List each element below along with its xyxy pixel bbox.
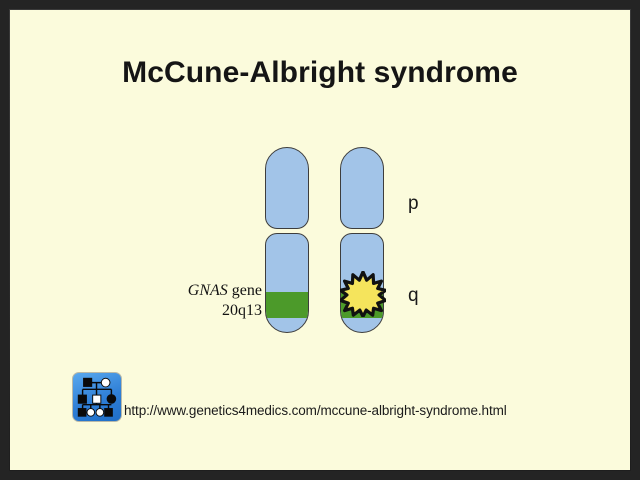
gene-annotation-label: GNAS gene 20q13 [110,281,262,321]
slide-canvas: McCune-Albright syndrome [10,10,630,470]
gene-name-text: GNAS [188,282,228,299]
arm-label-q: q [408,285,419,307]
right-chromatid-p-arm [340,147,384,229]
gnas-gene-band-left [265,292,309,318]
gene-word-label: gene [232,282,262,299]
mutation-starburst-icon [340,271,386,317]
left-chromatid-q-arm [265,233,309,333]
gene-locus-text: 20q13 [110,301,262,321]
source-url-link[interactable]: http://www.genetics4medics.com/mccune-al… [124,403,507,418]
arm-label-p: p [408,193,419,215]
pedigree-chart-logo[interactable] [72,372,122,422]
left-chromatid-p-arm [265,147,309,229]
source-row: http://www.genetics4medics.com/mccune-al… [72,372,507,422]
slide-container: McCune-Albright syndrome [0,0,640,480]
